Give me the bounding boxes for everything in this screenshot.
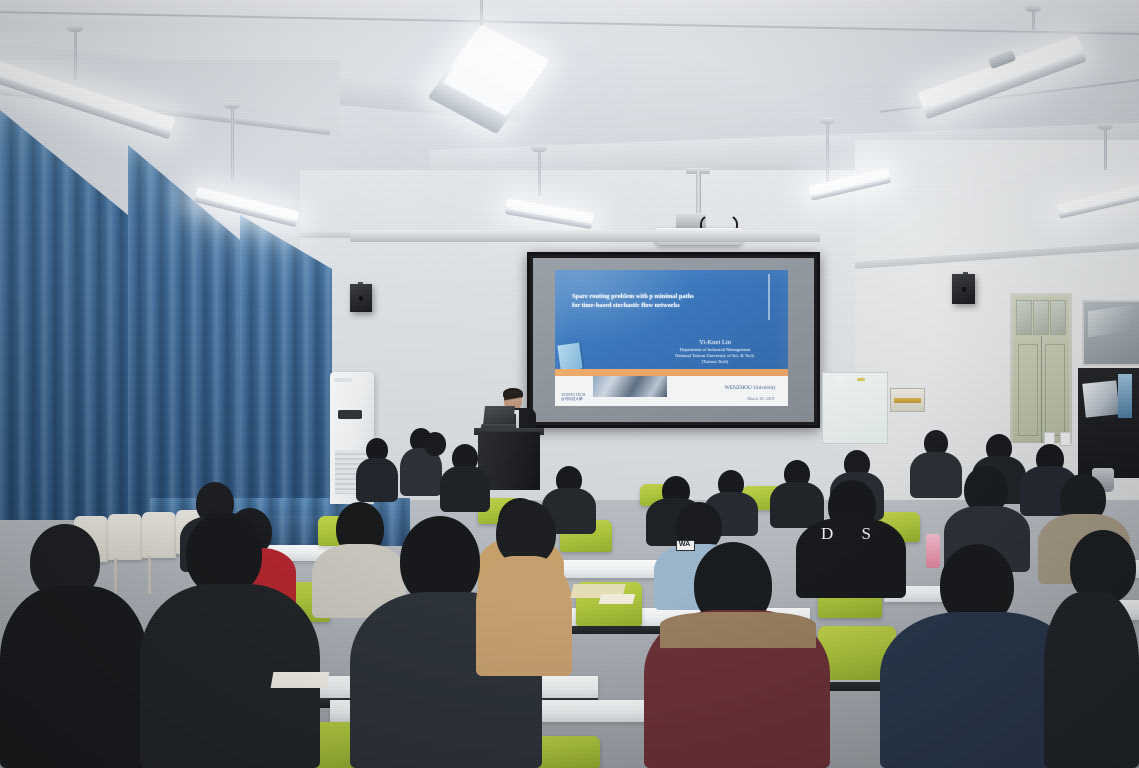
slide-date: March 30, 2018 <box>747 396 774 401</box>
slide-footer-photo <box>593 376 667 397</box>
electrical-panel-box <box>890 388 925 412</box>
slide-accent-bar <box>555 369 788 376</box>
slide-title: Spare routing problem with p minimal pat… <box>572 292 762 310</box>
audience-torso-near-7 <box>1044 592 1139 768</box>
audience-torso-far-10 <box>910 452 962 498</box>
light-rod-cap-5 <box>819 117 835 124</box>
slide-book-graphic <box>557 343 582 372</box>
door-panel-right <box>1045 344 1065 436</box>
audience-torso-far-8 <box>770 482 824 528</box>
whiteboard-marker-yellow <box>857 378 865 381</box>
window <box>1082 300 1139 366</box>
laptop-screen <box>483 406 515 425</box>
whiteboard <box>822 372 888 444</box>
projection-screen-case <box>350 230 820 242</box>
denim-patch-text: WA <box>677 540 692 549</box>
slide-title-line-2: for time-based stochastic flow networks <box>572 301 762 310</box>
light-rod-cap-4 <box>531 145 547 152</box>
light-rod-cap-1 <box>67 25 83 32</box>
slide-logo-line-2: 台灣科技大學 <box>561 397 585 402</box>
classroom-door[interactable] <box>1013 296 1069 443</box>
shelf-blue-item <box>1118 374 1132 418</box>
folding-chair-leg-2 <box>114 558 117 596</box>
audience-torso-far-1 <box>356 458 398 502</box>
light-rod-cap-6 <box>1025 5 1041 12</box>
audience-torso-near-1 <box>0 586 148 768</box>
lecture-hall-photo: EPSON Spare routing problem with p minim… <box>0 0 1139 768</box>
speaker-right <box>952 274 975 304</box>
light-rod-4 <box>538 148 541 196</box>
slide-title-line-1: Spare routing problem with p minimal pat… <box>572 292 762 301</box>
door-glass-pane-2 <box>1033 300 1049 335</box>
air-conditioner-display[interactable] <box>338 410 362 419</box>
paper-on-desk-3 <box>271 672 330 688</box>
presentation-slide: Spare routing problem with p minimal pat… <box>555 270 788 406</box>
slide-affiliation-3: (Taiwan Tech) <box>645 359 785 365</box>
slide-author-name: Yi-Kuei Lin <box>645 338 785 347</box>
slide-venue: WENZHOU University <box>725 385 776 392</box>
folding-chair-2[interactable] <box>108 514 142 560</box>
hoodie-text: D S <box>806 524 898 544</box>
projector-mount-arm <box>696 171 701 213</box>
door-center-split <box>1041 336 1042 443</box>
wall-outlet-2[interactable] <box>1060 432 1071 446</box>
projection-screen: Spare routing problem with p minimal pat… <box>527 252 820 428</box>
door-glass-pane-3 <box>1050 300 1066 335</box>
light-rod-7 <box>1104 126 1107 170</box>
light-rod-5 <box>826 120 829 182</box>
light-rod-cap-2 <box>224 102 240 109</box>
door-panel-left <box>1018 344 1038 436</box>
audience-torso-near-4 <box>476 556 572 676</box>
light-rod-1 <box>74 28 77 80</box>
audience-torso-far-4 <box>440 466 490 512</box>
slide-author-block: Yi-Kuei Lin Department of Industrial Man… <box>645 338 785 366</box>
folding-chair-leg-3 <box>148 556 151 594</box>
vest-shoulder-detail <box>660 612 816 648</box>
shelf-papers <box>1082 380 1119 417</box>
air-conditioner-top-vent <box>334 378 352 382</box>
slide-logo: TAIWAN TECH 台灣科技大學 <box>561 393 585 402</box>
screen-surface: Spare routing problem with p minimal pat… <box>533 258 814 422</box>
door-glass-pane-1 <box>1016 300 1032 335</box>
light-rod-2 <box>231 105 234 181</box>
paper-on-desk-2 <box>599 594 635 604</box>
audience-head-far-3 <box>424 432 446 456</box>
whiteboard-marker-white <box>837 377 845 380</box>
light-rod-cap-7 <box>1097 123 1113 130</box>
folding-chair-3[interactable] <box>142 512 176 558</box>
slide-light-streak <box>768 274 770 320</box>
pink-bottle <box>926 534 940 568</box>
speaker-left <box>350 284 372 312</box>
